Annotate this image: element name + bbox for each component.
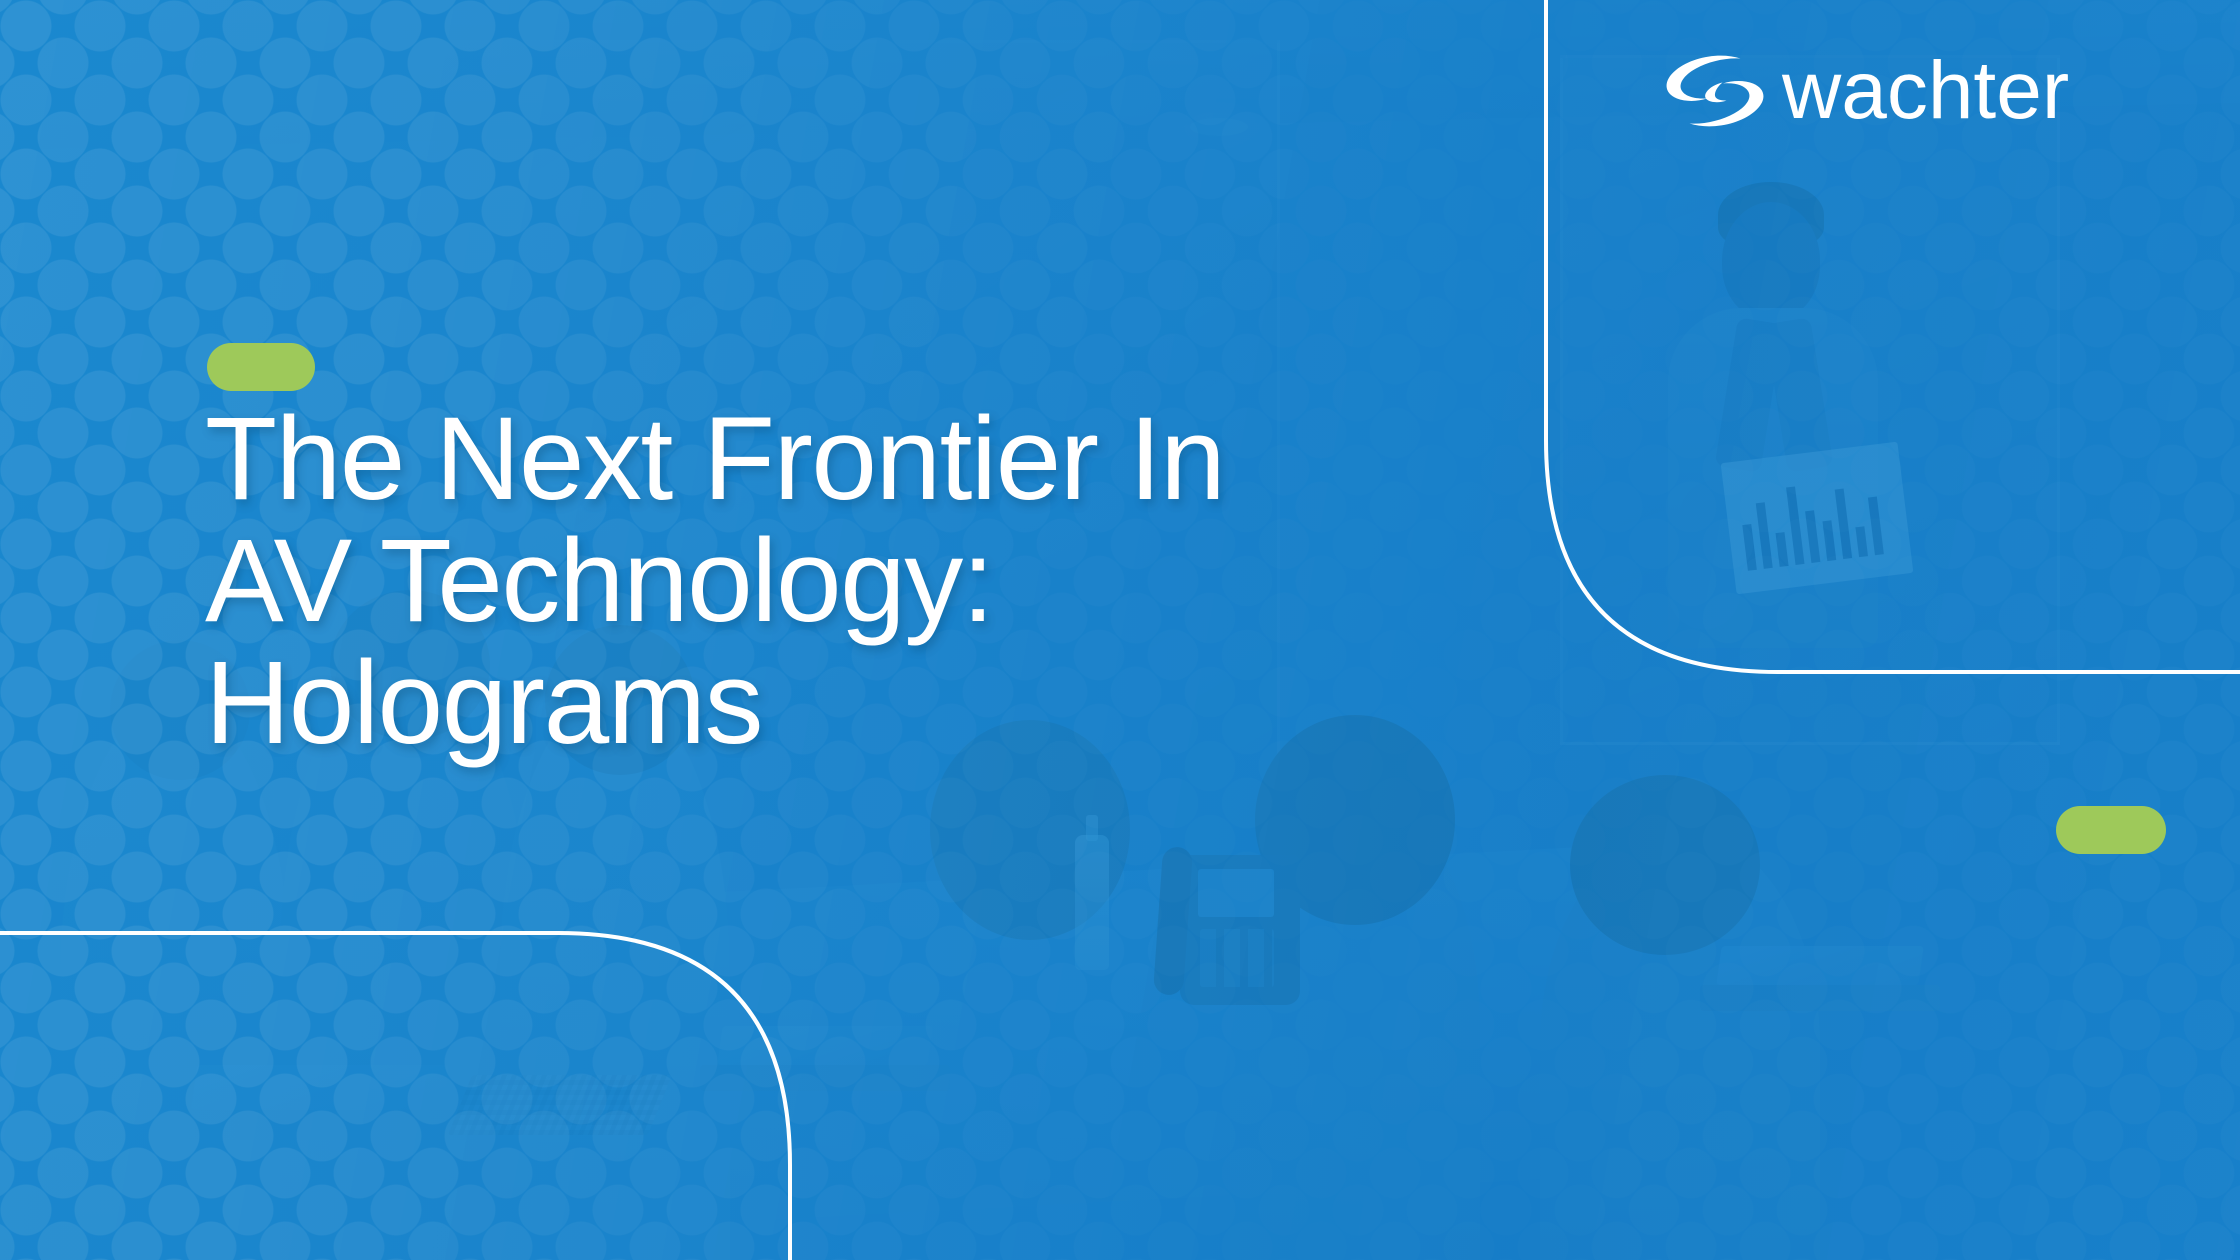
green-pill-accent-top [207,343,315,391]
green-pill-accent-bottom [2056,806,2166,854]
headline-line-1: The Next Frontier In [205,398,1495,520]
headline-line-3: Holograms [205,642,1495,764]
swoosh-spiral-icon [1662,48,1768,134]
hero-banner: The Next Frontier In AV Technology: Holo… [0,0,2240,1260]
headline-line-2: AV Technology: [205,520,1495,642]
page-title: The Next Frontier In AV Technology: Holo… [205,398,1495,764]
brand-logo: wachter [1662,48,2069,134]
white-rule-bottom-left-corner [0,933,790,1260]
brand-name: wachter [1782,50,2069,132]
